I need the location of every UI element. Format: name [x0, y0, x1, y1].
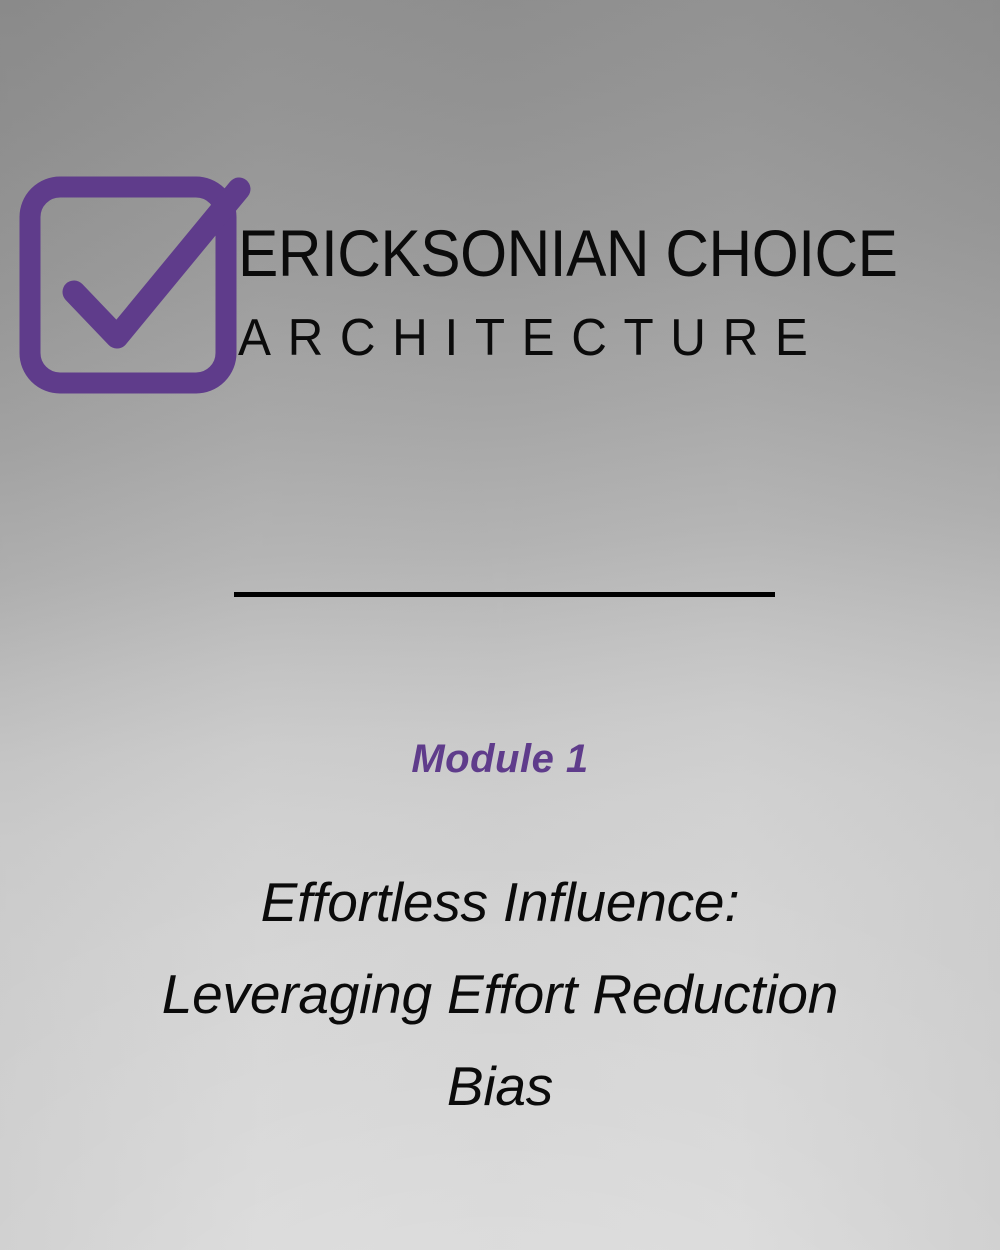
slide-title-line-2: Leveraging Effort Reduction: [40, 948, 960, 1040]
slide-title-line-1: Effortless Influence:: [40, 856, 960, 948]
slide-title: Effortless Influence: Leveraging Effort …: [40, 856, 960, 1132]
divider: [234, 592, 775, 597]
checkbox-check-icon: [12, 174, 256, 396]
brand-name-line-1: ERICKSONIAN CHOICE: [238, 172, 921, 290]
brand-name-line-2: ARCHITECTURE: [238, 290, 947, 368]
title-slide: ERICKSONIAN CHOICE ARCHITECTURE Module 1…: [0, 0, 1000, 1250]
slide-title-line-3: Bias: [40, 1040, 960, 1132]
brand-wordmark: ERICKSONIAN CHOICE ARCHITECTURE: [238, 172, 984, 394]
brand-logo-lockup: ERICKSONIAN CHOICE ARCHITECTURE: [0, 172, 1000, 402]
module-label: Module 1: [0, 734, 1000, 784]
